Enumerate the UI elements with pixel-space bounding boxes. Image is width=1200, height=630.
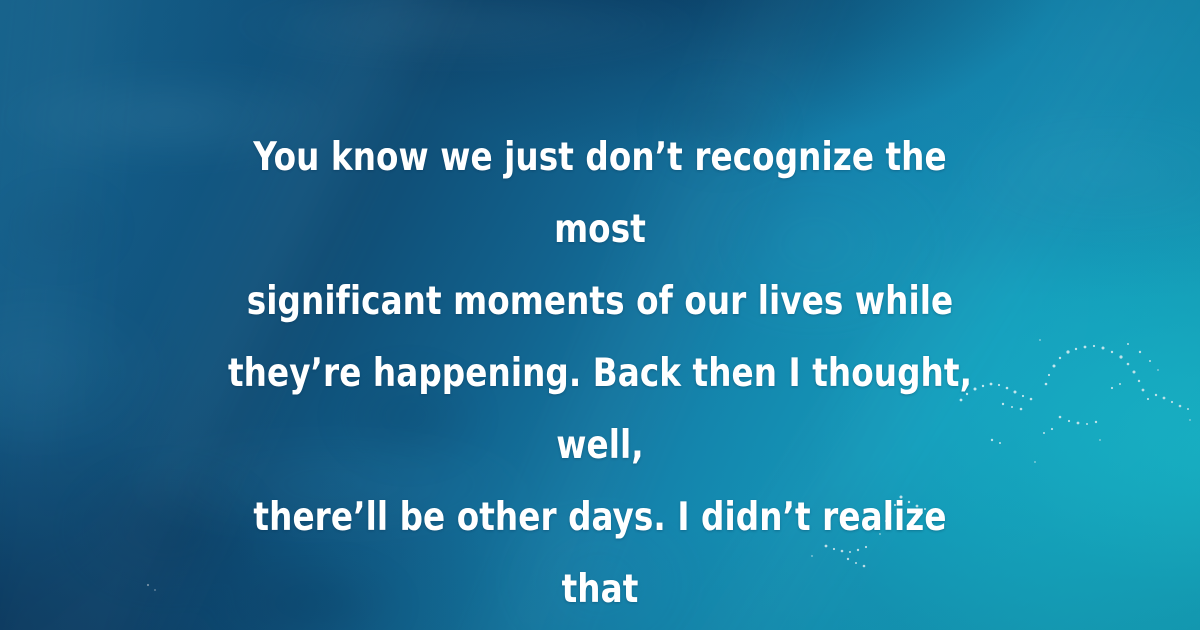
quote-line: that was the only day. bbox=[223, 626, 976, 630]
quote-content: You know we just don’t recognize the mos… bbox=[0, 0, 1200, 630]
quote-line: significant moments of our lives while bbox=[223, 266, 976, 338]
quote-card: You know we just don’t recognize the mos… bbox=[0, 0, 1200, 630]
quote-text: You know we just don’t recognize the mos… bbox=[223, 122, 976, 630]
quote-line: there’ll be other days. I didn’t realize… bbox=[223, 482, 976, 626]
quote-line: You know we just don’t recognize the mos… bbox=[223, 122, 976, 266]
quote-line: they’re happening. Back then I thought, … bbox=[223, 338, 976, 482]
